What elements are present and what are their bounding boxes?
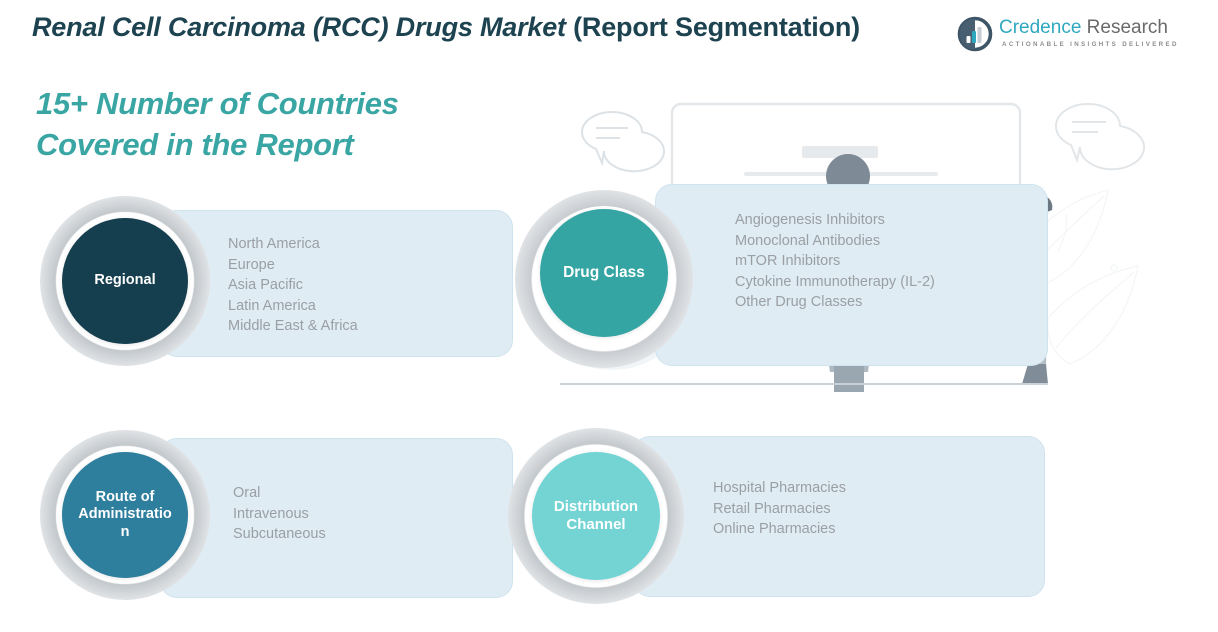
list-item: mTOR Inhibitors [735, 251, 935, 272]
list-item: Angiogenesis Inhibitors [735, 210, 935, 231]
headline: 15+ Number of Countries Covered in the R… [36, 84, 506, 166]
segment-circle-distribution-channel[interactable]: Distribution Channel [532, 452, 660, 580]
infographic-canvas: Renal Cell Carcinoma (RCC) Drugs Market … [0, 0, 1218, 632]
segment-item-list: Angiogenesis Inhibitors Monoclonal Antib… [735, 210, 935, 313]
credence-research-logo-mark-icon [957, 16, 993, 52]
brand-logo[interactable]: Credence Research ACTIONABLE INSIGHTS DE… [957, 12, 1157, 56]
segment-circle-label: Drug Class [563, 264, 645, 283]
list-item: Monoclonal Antibodies [735, 231, 935, 252]
segment-circle-label-line-3: n [121, 524, 130, 541]
segment-card-regional[interactable]: Regional North America Europe Asia Pacif… [40, 196, 490, 366]
segment-circle-label-line-2: Channel [566, 516, 625, 534]
list-item: Other Drug Classes [735, 292, 935, 313]
segment-item-list: Hospital Pharmacies Retail Pharmacies On… [713, 478, 846, 540]
page-title-italic: Renal Cell Carcinoma (RCC) Drugs Market [32, 12, 573, 42]
segment-circle-route-of-administration[interactable]: Route of Administratio n [62, 452, 188, 578]
segment-circle-drug-class[interactable]: Drug Class [540, 209, 668, 337]
speech-bubble-left [582, 112, 664, 171]
logo-brand-secondary: Research [1081, 17, 1168, 38]
segment-card-distribution-channel[interactable]: Distribution Channel Hospital Pharmacies… [508, 428, 1063, 604]
segment-circle-regional[interactable]: Regional [62, 218, 188, 344]
list-item: Oral [233, 483, 326, 504]
headline-line-1: 15+ Number of Countries [36, 84, 506, 125]
list-item: Intravenous [233, 504, 326, 525]
segment-panel [160, 438, 513, 598]
segment-circle-label-line-2: Administratio [78, 506, 171, 523]
list-item: Asia Pacific [228, 275, 358, 296]
list-item: Hospital Pharmacies [713, 478, 846, 499]
list-item: Latin America [228, 296, 358, 317]
logo-wordmark: Credence Research [999, 18, 1168, 37]
segment-circle-label: Regional [94, 272, 155, 289]
segment-circle-label-line-1: Distribution [554, 498, 638, 516]
logo-tagline: ACTIONABLE INSIGHTS DELIVERED [1002, 41, 1179, 48]
speech-bubble-right [1056, 104, 1144, 169]
segment-item-list: North America Europe Asia Pacific Latin … [228, 234, 358, 337]
segment-item-list: Oral Intravenous Subcutaneous [233, 483, 326, 545]
list-item: North America [228, 234, 358, 255]
headline-line-2: Covered in the Report [36, 125, 506, 166]
list-item: Retail Pharmacies [713, 499, 846, 520]
header: Renal Cell Carcinoma (RCC) Drugs Market … [0, 0, 1218, 62]
segment-circle-label-line-1: Route of [96, 489, 155, 506]
segment-card-route-of-administration[interactable]: Route of Administratio n Oral Intravenou… [40, 430, 490, 600]
list-item: Cytokine Immunotherapy (IL-2) [735, 272, 935, 293]
list-item: Online Pharmacies [713, 519, 846, 540]
list-item: Middle East & Africa [228, 316, 358, 337]
page-title-upright: (Report Segmentation) [573, 12, 860, 42]
list-item: Europe [228, 255, 358, 276]
page-title: Renal Cell Carcinoma (RCC) Drugs Market … [32, 12, 860, 43]
segment-card-drug-class[interactable]: Drug Class Angiogenesis Inhibitors Monoc… [515, 184, 1055, 366]
logo-brand-primary: Credence [999, 17, 1081, 38]
list-item: Subcutaneous [233, 524, 326, 545]
whiteboard-content [744, 146, 938, 176]
